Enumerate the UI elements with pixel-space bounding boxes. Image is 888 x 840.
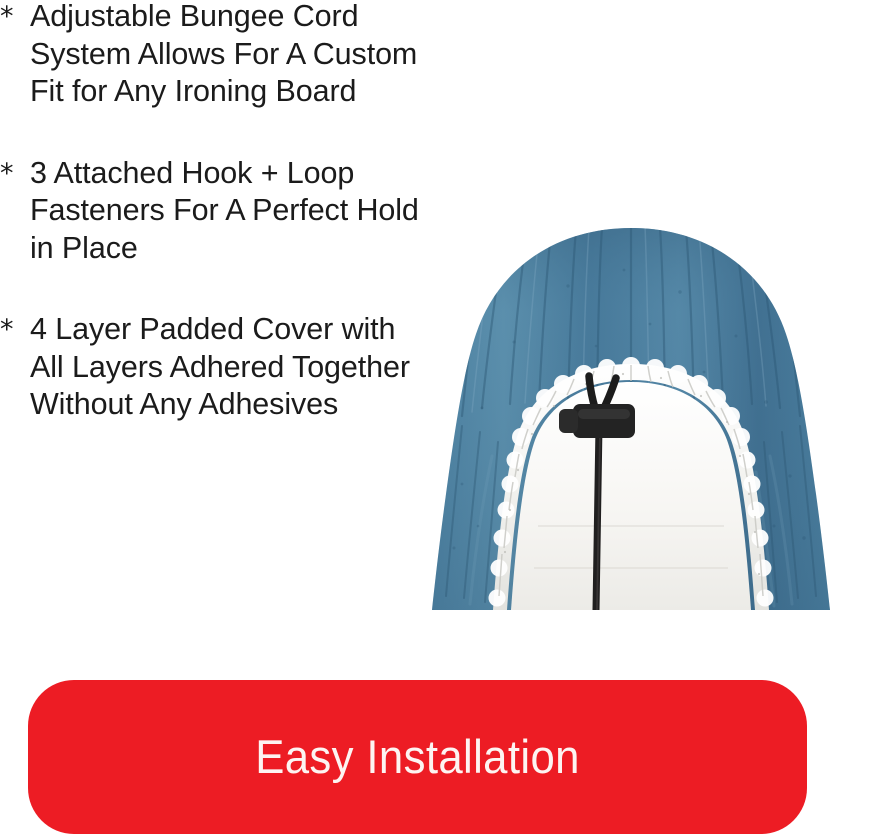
feature-text: 3 Attached Hook + Loop Fasteners For A P… <box>26 155 460 268</box>
list-item: * 3 Attached Hook + Loop Fasteners For A… <box>0 155 460 268</box>
list-item: * Adjustable Bungee Cord System Allows F… <box>0 0 460 111</box>
feature-list: * Adjustable Bungee Cord System Allows F… <box>0 0 460 468</box>
ironing-board-illustration <box>418 226 844 610</box>
asterisk-bullet-icon: * <box>0 155 20 192</box>
list-item: * 4 Layer Padded Cover with All Layers A… <box>0 311 460 424</box>
feature-text: Adjustable Bungee Cord System Allows For… <box>26 0 460 111</box>
product-feature-panel: * Adjustable Bungee Cord System Allows F… <box>0 0 888 840</box>
product-photo <box>418 226 844 610</box>
cord-lock-button <box>559 409 578 433</box>
asterisk-bullet-icon: * <box>0 0 20 35</box>
toggle-highlight <box>578 409 630 419</box>
ironing-board-svg <box>418 226 844 610</box>
easy-installation-button[interactable]: Easy Installation <box>28 680 807 834</box>
easy-installation-label: Easy Installation <box>255 732 580 782</box>
feature-text: 4 Layer Padded Cover with All Layers Adh… <box>26 311 460 424</box>
asterisk-bullet-icon: * <box>0 311 20 348</box>
